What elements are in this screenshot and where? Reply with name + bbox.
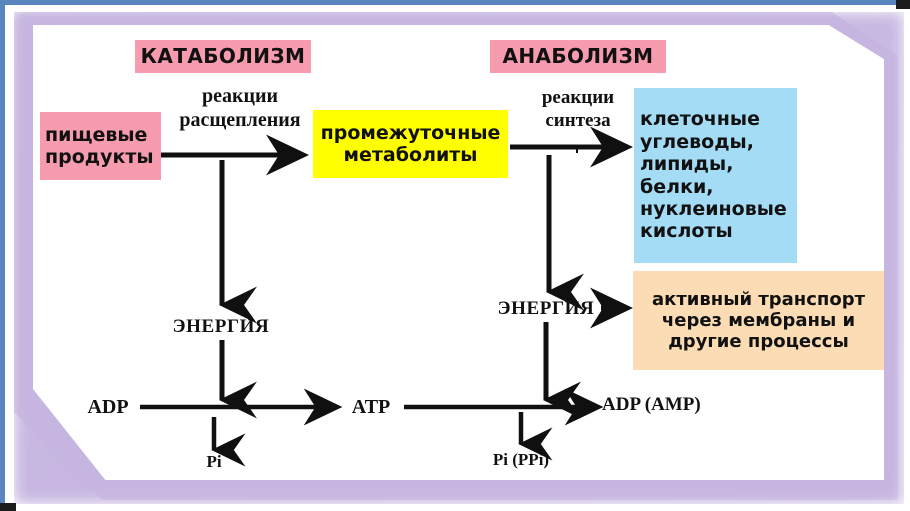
border-corner-top-right [896,0,910,9]
diagram-layer: КАТАБОЛИЗМ АНАБОЛИЗМ пищевые продукты пр… [0,0,910,511]
border-corner-bottom-left [0,503,16,511]
arrow-graphics: ATP --> ADP (AMP) --> [0,0,910,511]
slide-canvas: КАТАБОЛИЗМ АНАБОЛИЗМ пищевые продукты пр… [0,0,910,511]
